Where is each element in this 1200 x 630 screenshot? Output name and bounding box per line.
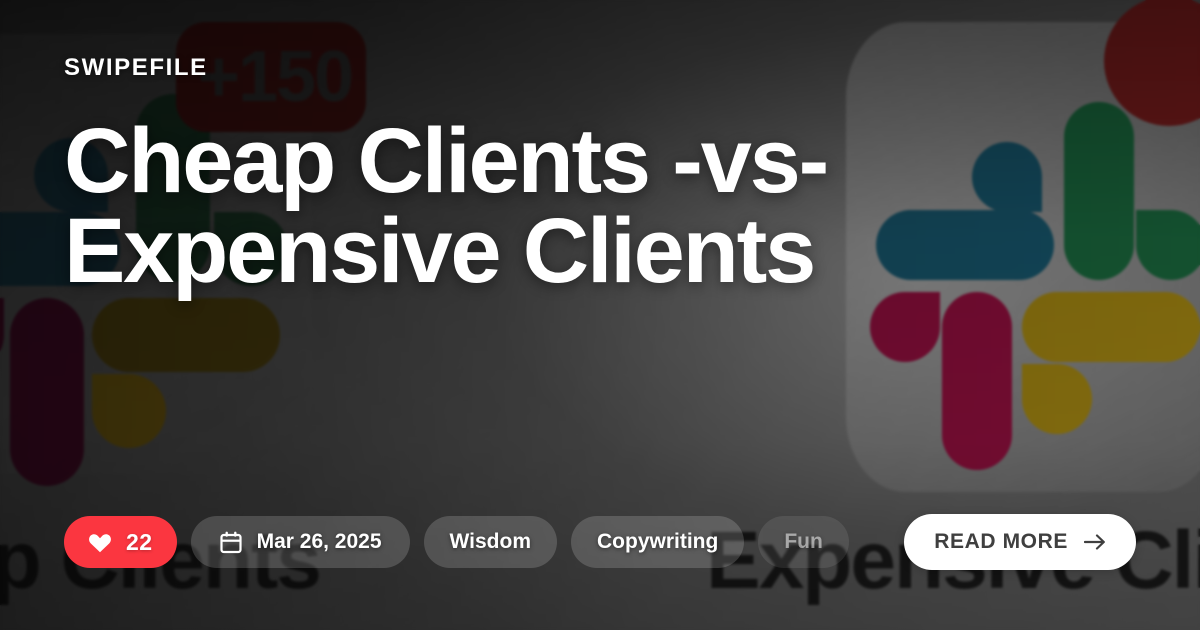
tag-label: Copywriting [597,530,718,554]
tag-label: Wisdom [450,530,531,554]
date-label: Mar 26, 2025 [257,530,382,554]
page-title: Cheap Clients -vs- Expensive Clients [64,116,884,296]
heart-icon [88,531,112,553]
likes-count: 22 [126,529,153,556]
swipefile-card[interactable]: +150 ap Clients Expensive Cli SWIPEFILE … [0,0,1200,630]
tag-pill-fun[interactable]: Fun [758,516,848,568]
tag-label: Fun [784,530,822,554]
read-more-label: READ MORE [934,530,1068,554]
tag-pill-wisdom[interactable]: Wisdom [424,516,557,568]
read-more-button[interactable]: READ MORE [904,514,1136,570]
date-badge: Mar 26, 2025 [191,516,410,568]
likes-badge[interactable]: 22 [64,516,177,568]
arrow-right-icon [1084,533,1106,551]
meta-bar: 22 Mar 26, 2025 Wisdom Copywriting Fun R… [64,516,1136,568]
category-eyebrow: SWIPEFILE [64,56,1136,80]
calendar-icon [219,530,243,554]
tag-pill-copywriting[interactable]: Copywriting [571,516,744,568]
